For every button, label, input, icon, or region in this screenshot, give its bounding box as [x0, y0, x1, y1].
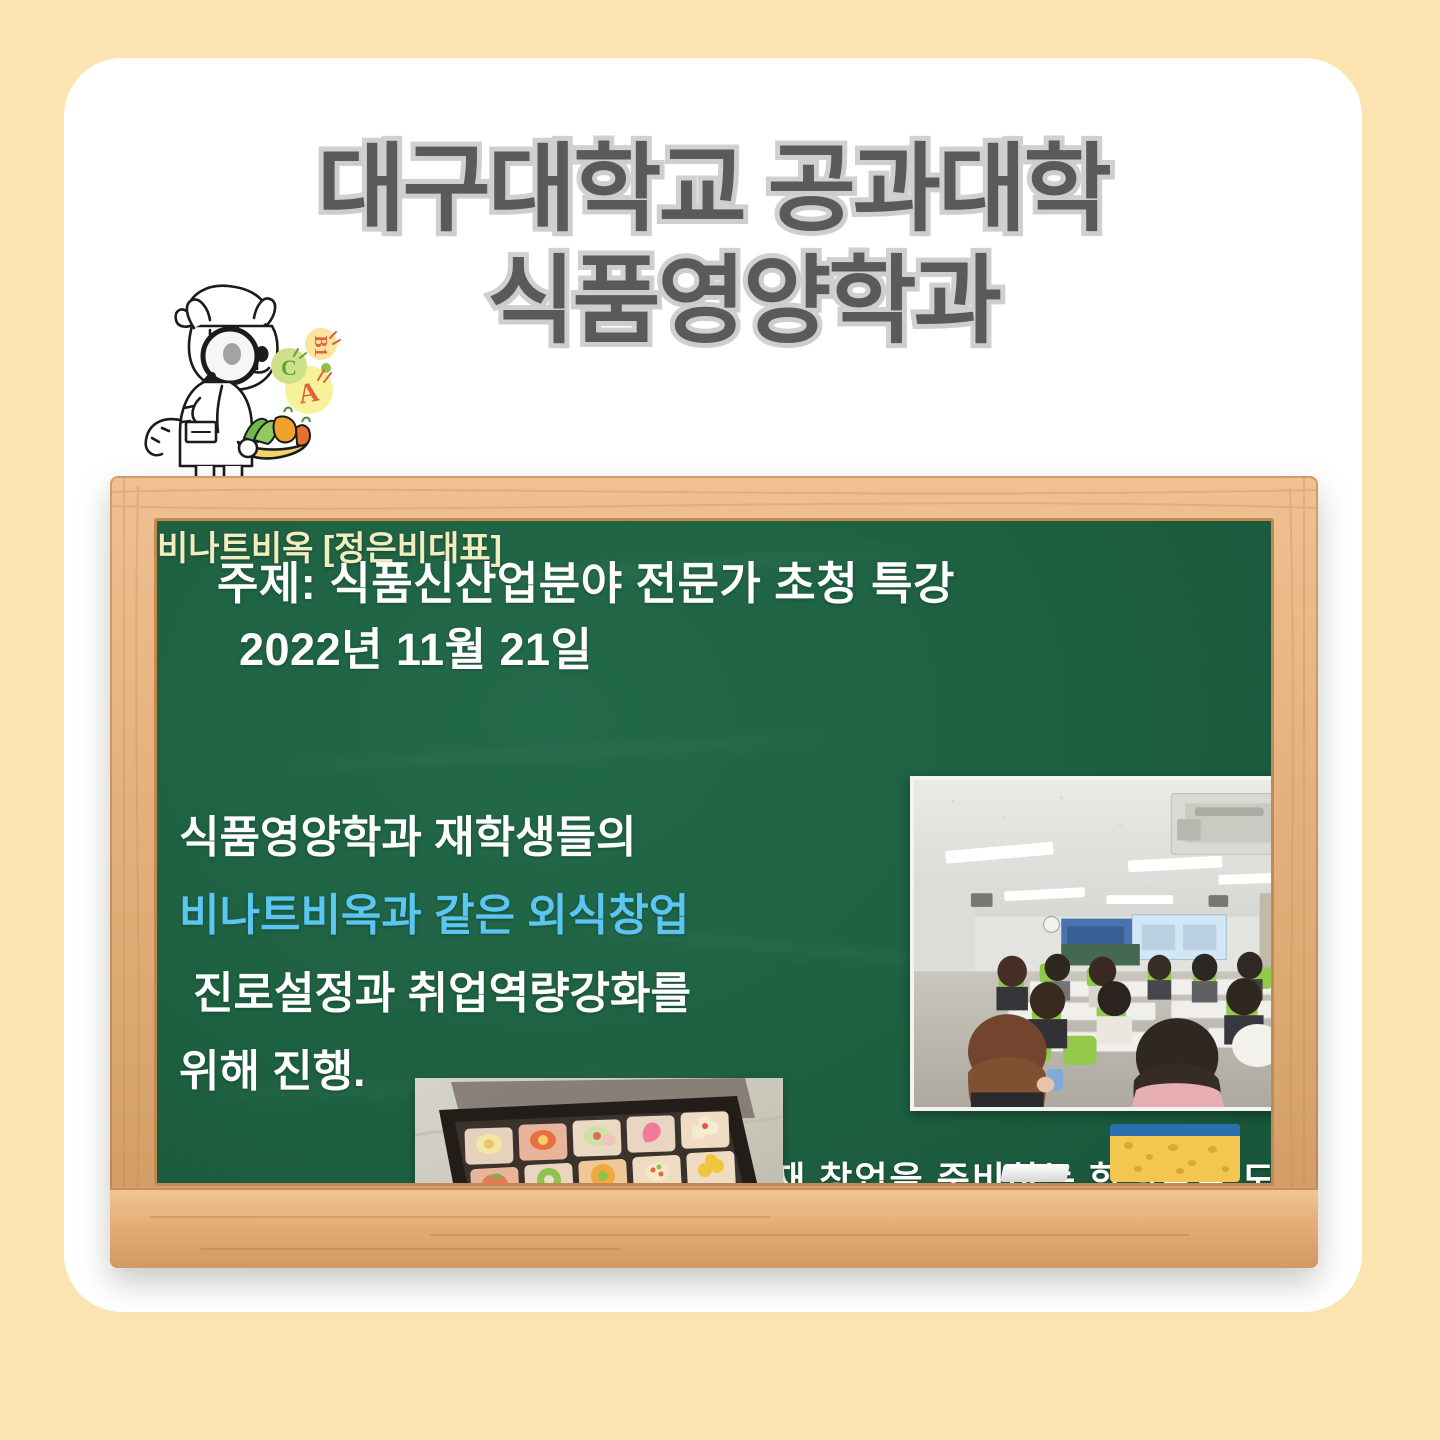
page-title-line-1: 대구대학교 공과대학 [64, 136, 1362, 244]
blackboard-writing-surface: 주제: 식품신산업분야 전문가 초청 특강 2022년 11월 21일 비나트비… [157, 521, 1271, 1183]
classroom-lecture-photo [910, 776, 1271, 1111]
blackboard: 주제: 식품신산업분야 전문가 초청 특강 2022년 11월 21일 비나트비… [110, 476, 1318, 1268]
body-line-accent: 비나트비옥과 같은 외식창업 [179, 877, 859, 955]
lecture-topic-line: 주제: 식품신산업분야 전문가 초청 특강 [217, 547, 955, 612]
rice-cake-gift-box-photo [415, 1078, 783, 1183]
chalk-smudge [277, 734, 837, 771]
sponge-top-band [1110, 1124, 1240, 1136]
body-line: 식품영양학과 재학생들의 [179, 799, 859, 877]
body-line: 진로설정과 취업역량강화를 [179, 955, 859, 1033]
lecture-date-line: 2022년 11월 21일 [239, 613, 592, 678]
sponge-body [1110, 1134, 1240, 1182]
sponge-eraser-icon [1110, 1124, 1240, 1182]
vitamin-b1-label: B1 [311, 335, 331, 356]
vitamin-c-label: C [281, 355, 297, 380]
poster-header: 대구대학교 공과대학 식품영양학과 [64, 58, 1362, 458]
poster-card: 대구대학교 공과대학 식품영양학과 [64, 58, 1362, 1312]
blackboard-body-text: 식품영양학과 재학생들의 비나트비옥과 같은 외식창업 진로설정과 취업역량강화… [179, 799, 859, 1111]
chalk-ledge [110, 1188, 1318, 1268]
tiger-mascot-icon: A C B1 [126, 270, 356, 480]
chalk-stick-icon [1000, 1164, 1070, 1182]
